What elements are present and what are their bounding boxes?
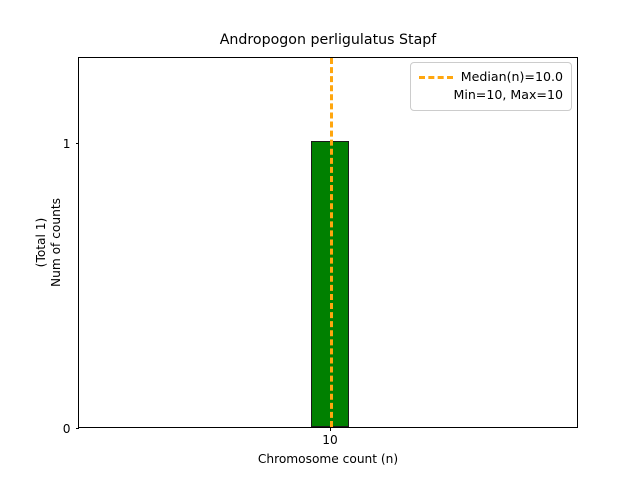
- xtick-label-10: 10: [322, 433, 338, 447]
- chart-legend[interactable]: Median(n)=10.0 Min=10, Max=10: [410, 62, 572, 111]
- ytick-mark-1: 1: [76, 143, 80, 144]
- ytick-mark-0: 0: [76, 428, 80, 429]
- plot-axes: 0 1 10 Median(n)=10.0 Min=10, Max=10: [78, 57, 578, 428]
- ytick-label-1: 1: [63, 138, 71, 150]
- legend-entry-minmax: Min=10, Max=10: [453, 86, 563, 104]
- median-line: [330, 58, 333, 427]
- legend-label-minmax: Min=10, Max=10: [453, 86, 563, 104]
- x-axis-label: Chromosome count (n): [78, 452, 578, 466]
- y-axis-label: (Total 1) Num of counts: [36, 57, 62, 428]
- legend-dash-icon: [419, 76, 453, 79]
- figure-canvas: Andropogon perligulatus Stapf 0 1 10 Med…: [0, 0, 640, 480]
- chart-title: Andropogon perligulatus Stapf: [0, 31, 640, 49]
- ytick-label-0: 0: [63, 423, 71, 435]
- plot-area: [79, 58, 577, 427]
- xtick-mark-10: [330, 427, 331, 431]
- legend-label-median: Median(n)=10.0: [461, 68, 563, 86]
- y-axis-label-line2: (Total 1): [34, 218, 49, 268]
- legend-entry-median: Median(n)=10.0: [419, 68, 563, 86]
- y-axis-label-line1: Num of counts: [49, 198, 64, 287]
